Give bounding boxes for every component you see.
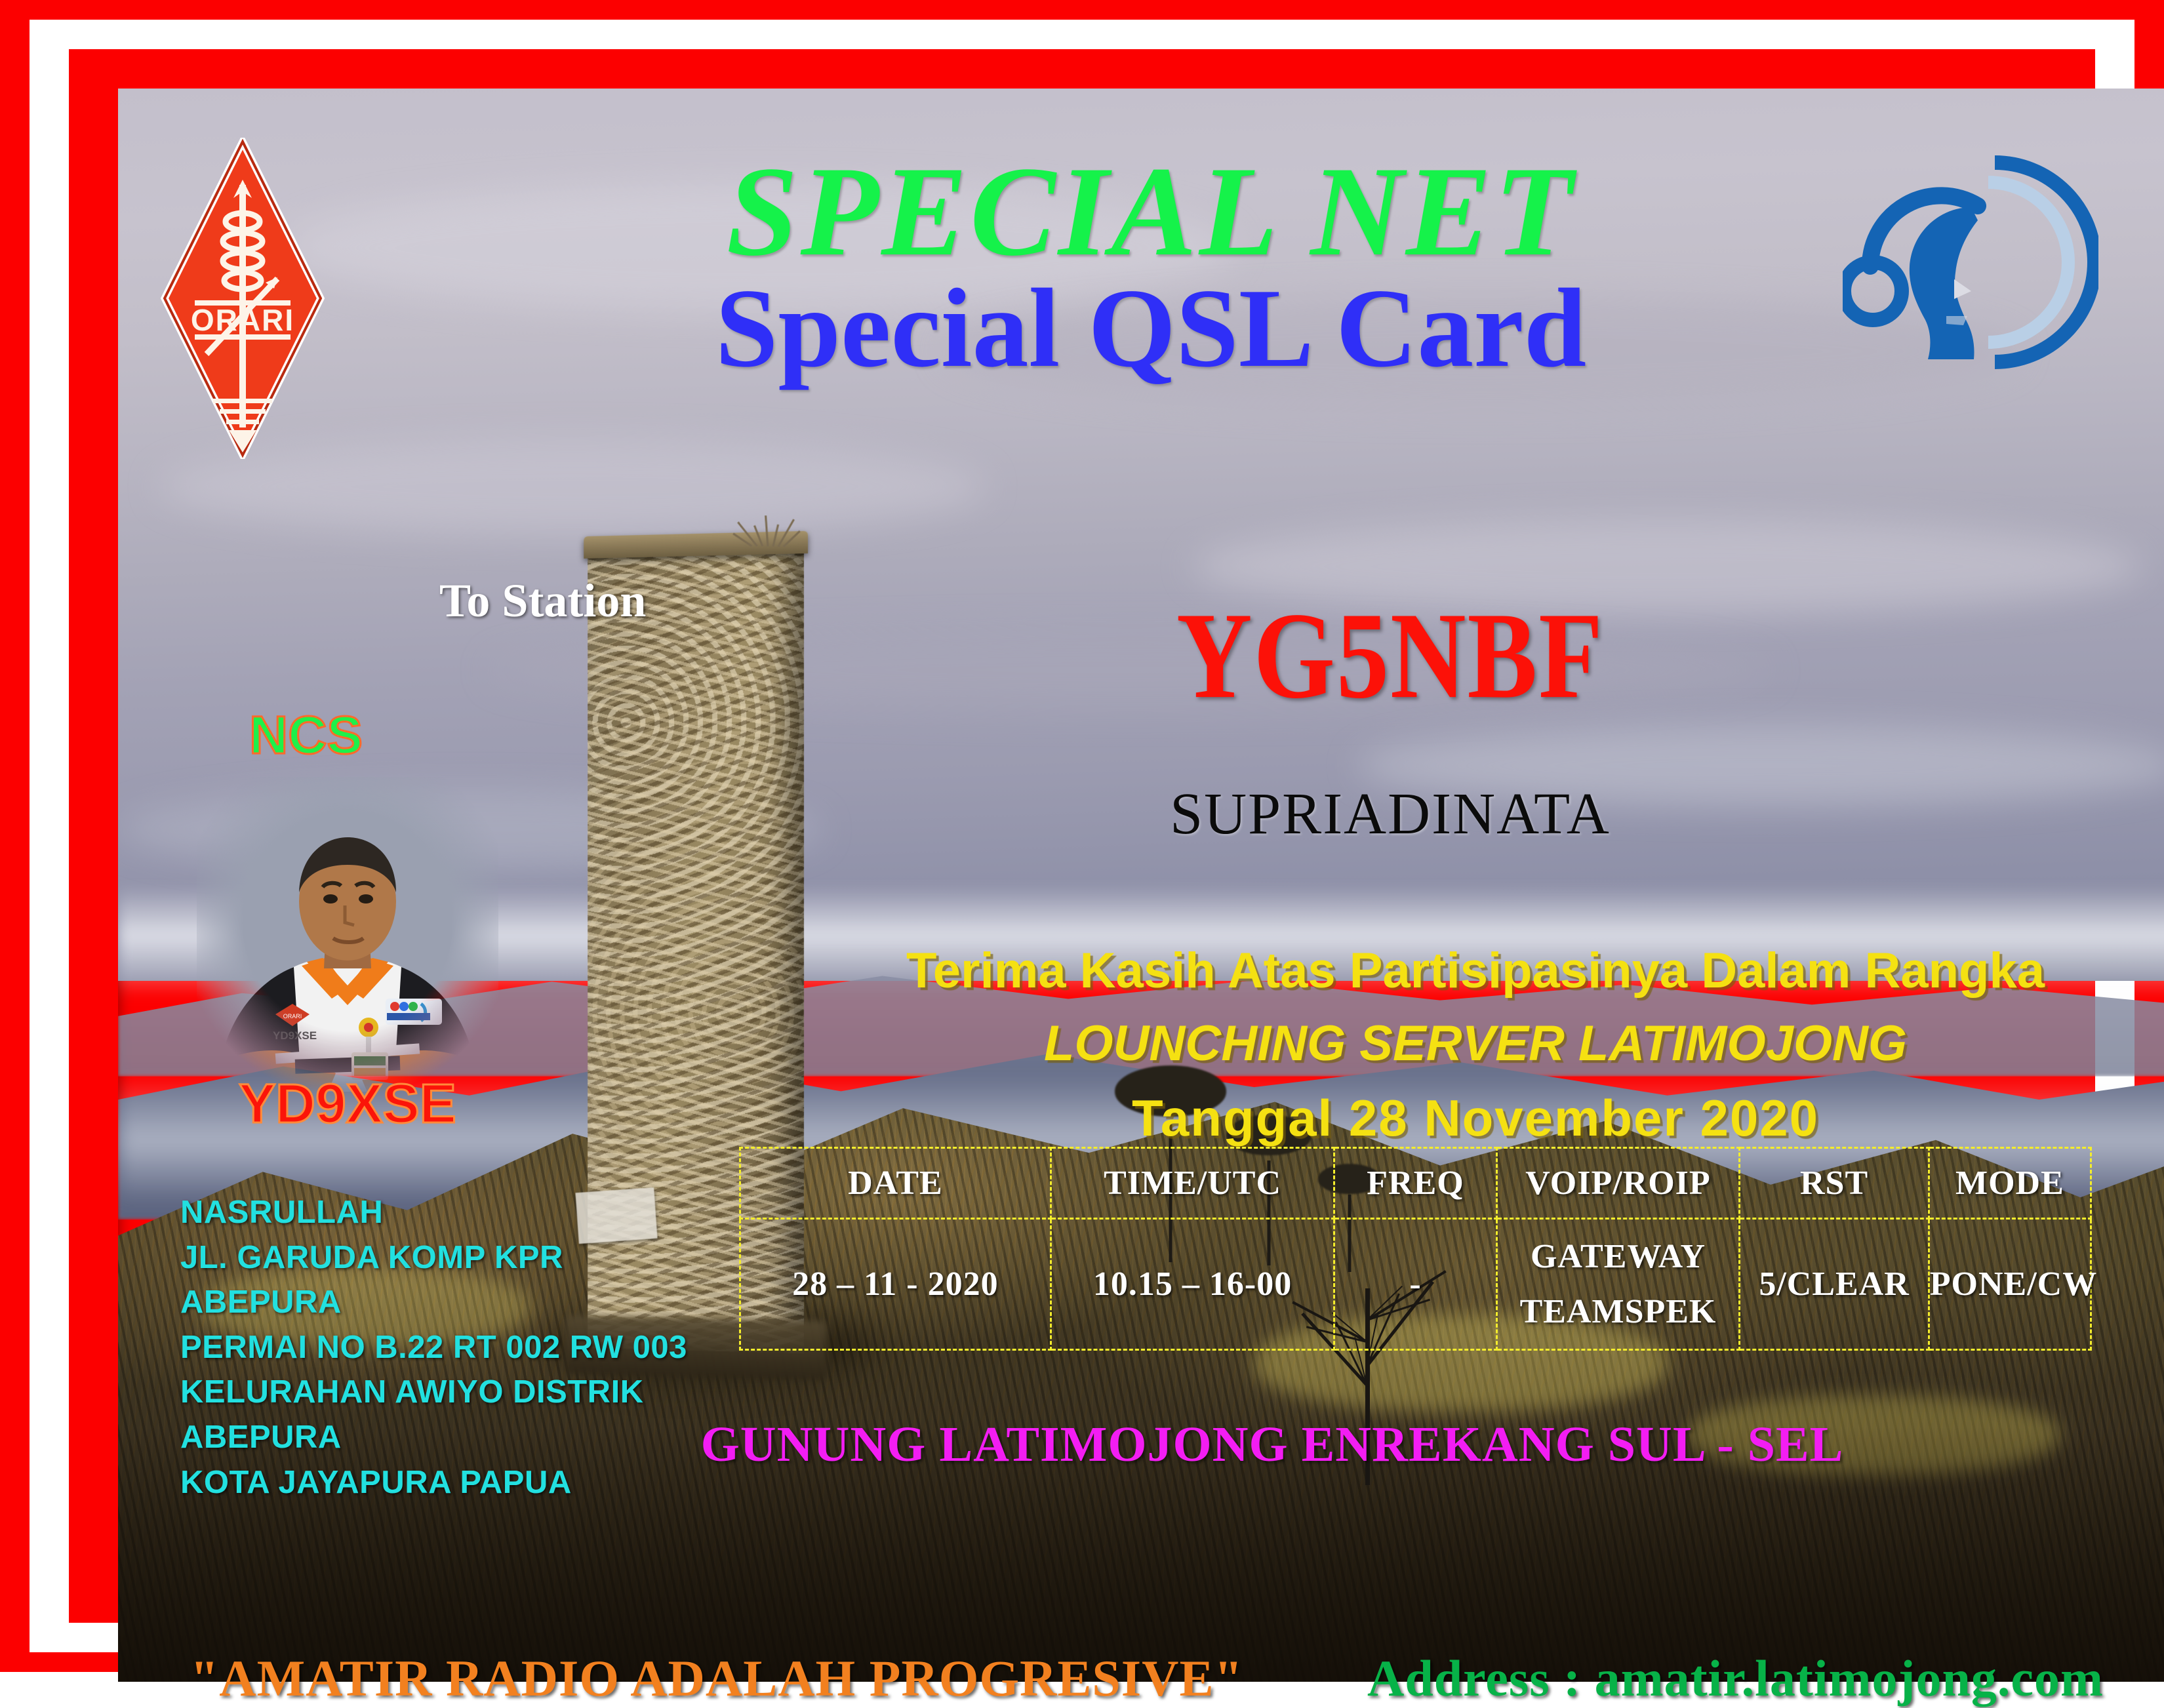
footer-motto: "AMATIR RADIO ADALAH PROGRESIVE"	[190, 1649, 1243, 1708]
table-row: 28 – 11 - 2020 10.15 – 16-00 - GATEWAY T…	[740, 1219, 2091, 1350]
cell-voip: GATEWAY TEAMSPEK	[1496, 1219, 1740, 1350]
cell-mode: PONE/CW	[1929, 1219, 2091, 1350]
cell-rst: 5/CLEAR	[1740, 1219, 1929, 1350]
page-title: SPECIAL NET	[118, 148, 2164, 276]
ncs-label: NCS	[249, 705, 363, 766]
column-header-voip: VOIP/ROIP	[1496, 1148, 1740, 1219]
qso-details-table: DATE TIME/UTC FREQ VOIP/ROIP RST MODE 28…	[739, 1147, 2092, 1351]
ncs-operator-photo: ORARI YD9XSE	[197, 777, 498, 1092]
thanks-line-3: Tanggal 28 November 2020	[807, 1087, 2144, 1149]
address-line: KOTA JAYAPURA PAPUA	[180, 1460, 687, 1505]
table-header-row: DATE TIME/UTC FREQ VOIP/ROIP RST MODE	[740, 1148, 2091, 1219]
cell-time: 10.15 – 16-00	[1051, 1219, 1334, 1350]
cell-voip-line-2: TEAMSPEK	[1498, 1284, 1739, 1339]
address-line: KELURAHAN AWIYO DISTRIK	[180, 1370, 687, 1415]
content-layer: ORARI	[118, 89, 2164, 1682]
column-header-freq: FREQ	[1334, 1148, 1496, 1219]
column-header-mode: MODE	[1929, 1148, 2091, 1219]
qsl-card-outer-frame: ORARI	[0, 0, 2164, 1672]
thank-you-message: Terima Kasih Atas Partisipasinya Dalam R…	[807, 941, 2144, 1150]
ncs-address-block: NASRULLAH JL. GARUDA KOMP KPR ABEPURA PE…	[180, 1190, 687, 1505]
thanks-line-2: LOUNCHING SERVER LATIMOJONG	[807, 1014, 2144, 1075]
operator-name: SUPRIADINATA	[1036, 780, 1744, 848]
cell-date: 28 – 11 - 2020	[740, 1219, 1051, 1350]
ncs-callsign: YD9XSE	[203, 1072, 492, 1136]
frame-white-gap: ORARI	[30, 20, 2134, 1652]
column-header-time: TIME/UTC	[1051, 1148, 1334, 1219]
cell-voip-line-1: GATEWAY	[1498, 1229, 1739, 1284]
page-subtitle: Special QSL Card	[118, 272, 2164, 385]
footer-web-address: Address : amatir.latimojong.com	[1367, 1649, 2104, 1708]
svg-text:ORARI: ORARI	[283, 1013, 302, 1020]
address-line: ABEPURA	[180, 1280, 687, 1325]
address-line: NASRULLAH	[180, 1190, 687, 1235]
address-line: ABEPURA	[180, 1415, 687, 1460]
thanks-line-1: Terima Kasih Atas Partisipasinya Dalam R…	[807, 941, 2144, 1002]
frame-inner-red: ORARI	[69, 49, 2095, 1623]
location-caption: GUNUNG LATIMOJONG ENREKANG SUL - SEL	[695, 1416, 1849, 1473]
svg-text:YD9XSE: YD9XSE	[273, 1029, 317, 1042]
column-header-rst: RST	[1740, 1148, 1929, 1219]
address-line: JL. GARUDA KOMP KPR	[180, 1235, 687, 1281]
cell-freq: -	[1334, 1219, 1496, 1350]
station-callsign: YG5NBF	[1056, 593, 1725, 717]
address-line: PERMAI NO B.22 RT 002 RW 003	[180, 1325, 687, 1370]
to-station-label: To Station	[439, 574, 646, 628]
column-header-date: DATE	[740, 1148, 1051, 1219]
